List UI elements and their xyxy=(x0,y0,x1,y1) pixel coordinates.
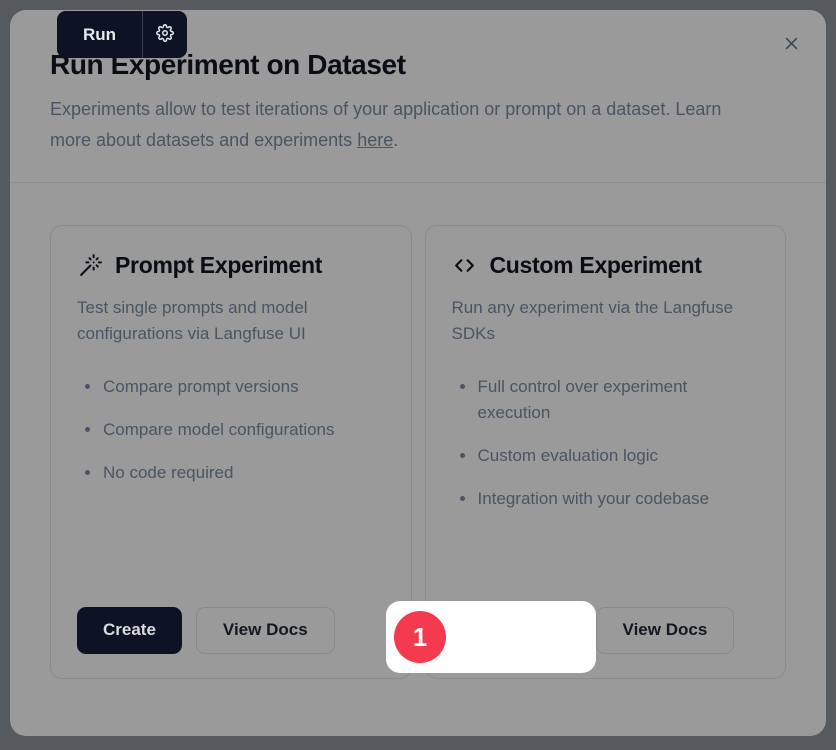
card-prompt-experiment-header: Prompt Experiment xyxy=(77,252,385,279)
magic-wand-icon xyxy=(77,252,103,278)
list-item: Full control over experiment execution xyxy=(452,374,760,426)
list-item: Compare prompt versions xyxy=(77,374,385,400)
card-custom-experiment-title: Custom Experiment xyxy=(490,252,702,279)
list-item: Compare model configurations xyxy=(77,417,385,443)
card-custom-experiment-header: Custom Experiment xyxy=(452,252,760,279)
run-button[interactable]: Run xyxy=(57,11,143,58)
view-docs-button-prompt[interactable]: View Docs xyxy=(196,607,335,654)
card-prompt-experiment-feature-list: Compare prompt versions Compare model co… xyxy=(77,374,385,502)
run-split-button-group-highlighted[interactable]: Run xyxy=(57,11,187,58)
list-item: Custom evaluation logic xyxy=(452,443,760,469)
dialog-description-text-after-link: . xyxy=(393,130,398,150)
close-icon xyxy=(783,35,800,55)
view-docs-button-custom[interactable]: View Docs xyxy=(596,607,735,654)
card-prompt-experiment-actions: Create View Docs xyxy=(77,607,385,654)
annotation-step-badge: 1 xyxy=(394,611,446,663)
create-button[interactable]: Create xyxy=(77,607,182,654)
card-custom-experiment-description: Run any experiment via the Langfuse SDKs xyxy=(452,295,760,349)
list-item: Integration with your codebase xyxy=(452,486,760,512)
card-prompt-experiment-description: Test single prompts and model configurat… xyxy=(77,295,385,349)
annotation-target-run-split-button: Run xyxy=(57,11,187,58)
run-settings-button[interactable] xyxy=(143,11,187,58)
gear-icon xyxy=(156,24,174,45)
card-prompt-experiment[interactable]: Prompt Experiment Test single prompts an… xyxy=(50,225,412,679)
close-button[interactable] xyxy=(776,30,806,60)
dialog-description: Experiments allow to test iterations of … xyxy=(50,94,740,156)
card-custom-experiment-feature-list: Full control over experiment execution C… xyxy=(452,374,760,528)
learn-more-link[interactable]: here xyxy=(357,130,393,150)
code-brackets-icon xyxy=(452,252,478,278)
list-item: No code required xyxy=(77,460,385,486)
modal-backdrop[interactable]: Run Experiment on Dataset Experiments al… xyxy=(0,0,836,750)
card-prompt-experiment-title: Prompt Experiment xyxy=(115,252,322,279)
